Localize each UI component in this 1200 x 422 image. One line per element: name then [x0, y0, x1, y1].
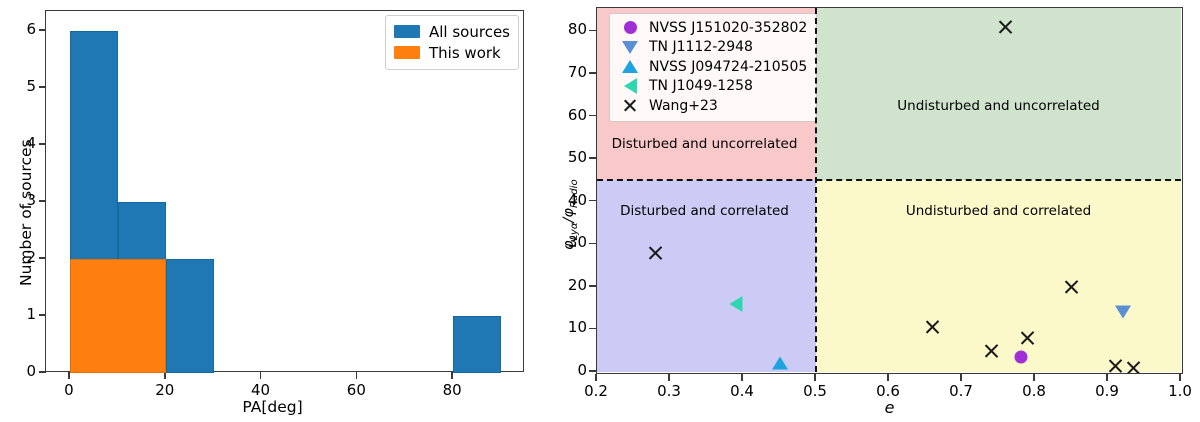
y-tick-label: 70: [552, 65, 587, 80]
histogram-bar: [166, 259, 214, 373]
y-tick-mark: [39, 257, 46, 259]
x-tick-label: 0.6: [863, 384, 913, 399]
y-tick-label: 0: [552, 363, 587, 378]
histogram-x-axis-label: PA[deg]: [0, 398, 545, 416]
y-tick-mark: [589, 72, 596, 74]
legend-item-tn-j1112: TN J1112-2948: [617, 38, 807, 58]
y-tick-mark: [589, 115, 596, 117]
y-tick-mark: [589, 243, 596, 245]
phi-lya-numerator: φ: [561, 240, 577, 250]
vertical-divider-line: [815, 8, 817, 372]
circle-marker-icon: [617, 18, 643, 38]
triangle-left-marker-icon: [617, 77, 643, 97]
scatter-axes: Disturbed and uncorrelated Undisturbed a…: [596, 7, 1183, 374]
region-label-disturbed-uncorrelated: Disturbed and uncorrelated: [612, 136, 798, 152]
y-tick-mark: [39, 314, 46, 316]
legend-label: TN J1049-1258: [649, 78, 753, 94]
legend-label: NVSS J151020-352802: [649, 20, 807, 36]
x-tick-mark: [814, 374, 816, 381]
scatter-x-axis-label: e: [596, 398, 1183, 417]
y-tick-label: 10: [552, 320, 587, 335]
y-tick-label: 0: [8, 364, 36, 379]
x-tick-label: 40: [241, 383, 281, 398]
all-sources-swatch-icon: [394, 25, 420, 38]
triangle-up-data-point: [772, 357, 788, 370]
legend-label: TN J1112-2948: [649, 39, 753, 55]
x-tick-label: 0.8: [1009, 384, 1059, 399]
legend-item-wang23: Wang+23: [617, 96, 807, 116]
radio-subscript: Radio: [569, 179, 580, 208]
x-tick-label: 20: [145, 383, 185, 398]
y-tick-mark: [39, 371, 46, 373]
cross-data-point: [997, 19, 1014, 36]
histogram-bar: [453, 316, 501, 373]
circle-data-point: [1015, 350, 1028, 363]
cross-data-point: [1125, 359, 1142, 374]
right-panel: Disturbed and uncorrelated Undisturbed a…: [545, 0, 1200, 422]
y-tick-mark: [39, 86, 46, 88]
histogram-y-axis-label: Number of sources: [17, 139, 35, 286]
phi-radio-denominator: φ: [561, 208, 577, 218]
scatter-y-axis-label: φLyα/φRadio: [561, 179, 580, 250]
legend-item-nvss-j094724: NVSS J094724-210505: [617, 57, 807, 77]
x-tick-mark: [260, 372, 262, 379]
x-tick-label: 0.7: [936, 384, 986, 399]
cross-data-point: [924, 319, 941, 336]
x-tick-mark: [451, 372, 453, 379]
region-label-disturbed-correlated: Disturbed and correlated: [620, 203, 789, 219]
x-tick-label: 1.0: [1155, 384, 1200, 399]
x-tick-mark: [960, 374, 962, 381]
legend-label: All sources: [429, 23, 510, 41]
cross-data-point: [1019, 329, 1036, 346]
x-tick-mark: [887, 374, 889, 381]
y-tick-mark: [589, 157, 596, 159]
x-tick-label: 0.3: [644, 384, 694, 399]
legend-item-tn-j1049: TN J1049-1258: [617, 77, 807, 97]
y-tick-mark: [589, 30, 596, 32]
x-tick-label: 0.4: [717, 384, 767, 399]
triangle-left-data-point: [729, 296, 742, 312]
scatter-legend: NVSS J151020-352802 TN J1112-2948 NVSS J…: [609, 13, 817, 122]
horizontal-divider-line: [597, 179, 1181, 181]
x-tick-label: 0.5: [790, 384, 840, 399]
y-tick-mark: [39, 143, 46, 145]
cross-data-point: [983, 342, 1000, 359]
x-tick-mark: [741, 374, 743, 381]
x-tick-mark: [164, 372, 166, 379]
figure-root: All sources This work 0123456 020406080 …: [0, 0, 1200, 422]
x-tick-label: 80: [432, 383, 472, 398]
region-label-undisturbed-uncorrelated: Undisturbed and uncorrelated: [897, 98, 1099, 114]
y-tick-label: 1: [8, 307, 36, 322]
x-tick-label: 60: [336, 383, 376, 398]
region-label-undisturbed-correlated: Undisturbed and correlated: [906, 203, 1091, 219]
legend-label: NVSS J094724-210505: [649, 59, 807, 75]
left-panel: All sources This work 0123456 020406080 …: [0, 0, 545, 422]
cross-data-point: [1107, 357, 1124, 374]
x-tick-mark: [1106, 374, 1108, 381]
x-tick-mark: [595, 374, 597, 381]
triangle-down-marker-icon: [617, 38, 643, 58]
y-tick-label: 5: [8, 79, 36, 94]
y-tick-mark: [589, 370, 596, 372]
triangle-down-data-point: [1115, 306, 1131, 319]
x-tick-label: 0.9: [1082, 384, 1132, 399]
y-tick-mark: [589, 285, 596, 287]
cross-data-point: [1063, 278, 1080, 295]
y-tick-mark: [39, 29, 46, 31]
x-tick-label: 0.2: [571, 384, 621, 399]
x-tick-mark: [356, 372, 358, 379]
histogram-legend: All sources This work: [385, 15, 519, 70]
legend-item-this-work: This work: [394, 42, 510, 63]
legend-item-nvss-j151020: NVSS J151020-352802: [617, 18, 807, 38]
y-tick-label: 50: [552, 150, 587, 165]
lya-subscript: Lyα: [569, 222, 580, 240]
y-tick-mark: [39, 200, 46, 202]
y-tick-label: 60: [552, 108, 587, 123]
cross-data-point: [647, 244, 664, 261]
x-tick-mark: [1033, 374, 1035, 381]
histogram-bar: [70, 259, 166, 373]
x-tick-mark: [668, 374, 670, 381]
x-tick-mark: [1179, 374, 1181, 381]
y-tick-label: 6: [8, 22, 36, 37]
x-tick-mark: [68, 372, 70, 379]
y-tick-label: 20: [552, 278, 587, 293]
x-tick-label: 0: [49, 383, 89, 398]
legend-label: This work: [429, 44, 501, 62]
y-tick-label: 80: [552, 22, 587, 37]
legend-item-all-sources: All sources: [394, 21, 510, 42]
y-tick-mark: [589, 328, 596, 330]
y-tick-mark: [589, 200, 596, 202]
triangle-up-marker-icon: [617, 57, 643, 77]
this-work-swatch-icon: [394, 46, 420, 59]
histogram-axes: All sources This work: [45, 10, 524, 372]
cross-marker-icon: [617, 96, 643, 116]
legend-label: Wang+23: [649, 98, 718, 114]
